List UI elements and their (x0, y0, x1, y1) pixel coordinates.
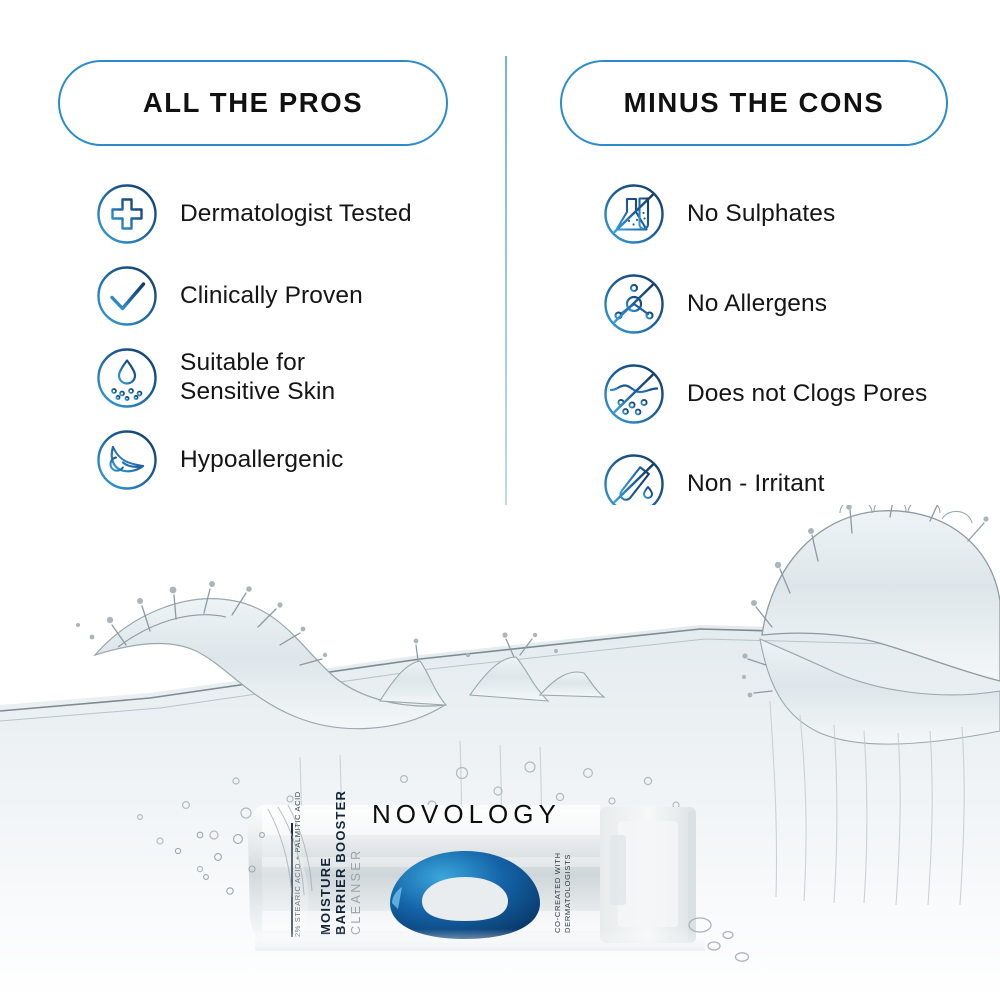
plus-in-circle-icon (96, 183, 158, 245)
water-splash-illustration: NOVOLOGY MOISTURE BARRIER BOOSTER CLEANS… (0, 505, 1000, 1000)
list-item-label: Does not Clogs Pores (687, 380, 927, 409)
list-item: Does not Clogs Pores (603, 363, 999, 425)
pros-list: Dermatologist Tested Clinically Proven (96, 183, 496, 511)
no-molecule-icon (603, 273, 665, 335)
list-item-label: No Allergens (687, 290, 827, 319)
bottle-name-line2: BARRIER BOOSTER (333, 790, 348, 935)
bottle-endorsement-line2: DERMATOLOGISTS (563, 854, 572, 933)
list-item: No Allergens (603, 273, 999, 335)
bottle-name-line3: CLEANSER (349, 848, 363, 935)
infographic-canvas: ALL THE PROS MINUS THE CONS Dermatologis… (0, 0, 1000, 1000)
list-item-label: Non - Irritant (687, 470, 825, 499)
column-divider (505, 56, 507, 508)
list-item: No Sulphates (603, 183, 999, 245)
list-item: Suitable for Sensitive Skin (96, 347, 496, 409)
header-pill-pros: ALL THE PROS (58, 60, 448, 146)
no-clogged-pores-icon (603, 363, 665, 425)
list-item-label: Hypoallergenic (180, 446, 343, 475)
no-flask-test-tube-icon (603, 183, 665, 245)
list-item: Dermatologist Tested (96, 183, 496, 245)
droplet-on-skin-icon (96, 347, 158, 409)
list-item: Clinically Proven (96, 265, 496, 327)
header-pros-label: ALL THE PROS (143, 87, 363, 119)
header-cons-label: MINUS THE CONS (624, 87, 885, 119)
list-item-label: Dermatologist Tested (180, 200, 412, 229)
list-item-label: Clinically Proven (180, 282, 363, 311)
bottle-brand: NOVOLOGY (372, 799, 561, 829)
list-item-label: Suitable for Sensitive Skin (180, 349, 335, 407)
bottle-endorsement-line1: CO-CREATED WITH (553, 852, 562, 933)
feather-leaf-icon (96, 429, 158, 491)
product-bottle: NOVOLOGY MOISTURE BARRIER BOOSTER CLEANS… (175, 790, 705, 951)
cons-list: No Sulphates (603, 183, 999, 543)
list-item: Hypoallergenic (96, 429, 496, 491)
header-pill-cons: MINUS THE CONS (560, 60, 948, 146)
product-splash-photo: NOVOLOGY MOISTURE BARRIER BOOSTER CLEANS… (0, 505, 1000, 1000)
check-in-circle-icon (96, 265, 158, 327)
list-item-label: No Sulphates (687, 200, 835, 229)
bottle-name-line1: MOISTURE (318, 857, 333, 935)
